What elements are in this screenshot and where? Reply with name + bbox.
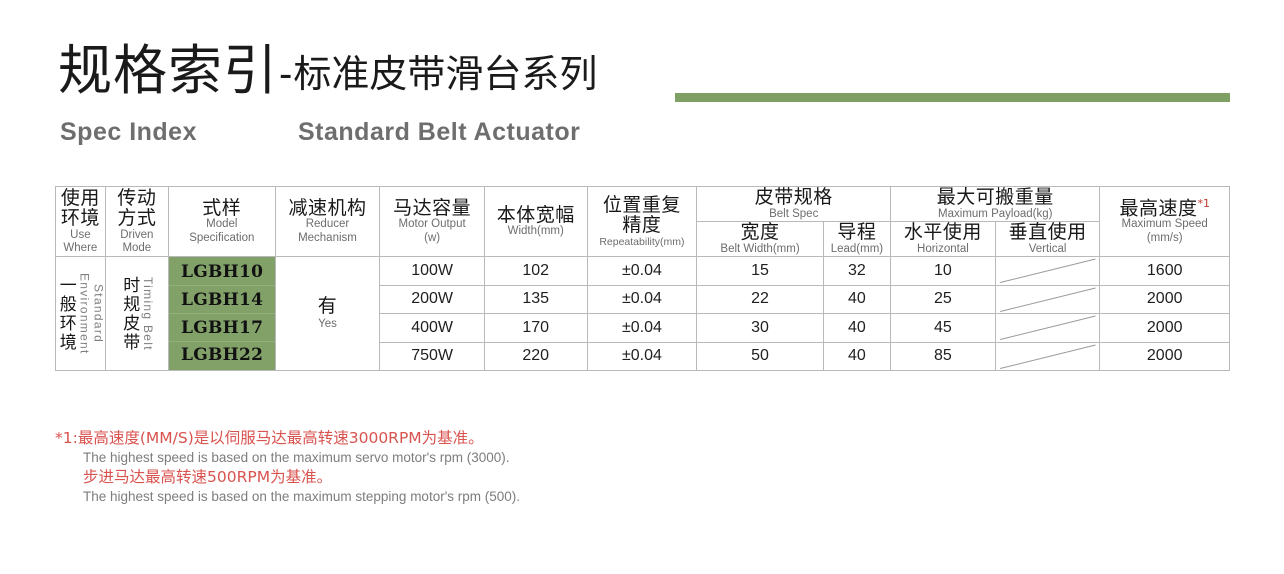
th-speed-en-l1: Maximum Speed bbox=[1100, 218, 1229, 232]
cell-lead: 40 bbox=[823, 314, 890, 343]
cell-horizontal: 10 bbox=[891, 257, 996, 286]
diagonal-slash-icon bbox=[996, 314, 1100, 342]
th-driven-mode: 传动 方式 Driven Mode bbox=[105, 187, 168, 257]
cell-max-speed: 2000 bbox=[1100, 314, 1230, 343]
th-use-where-cn-l2: 环境 bbox=[56, 208, 105, 229]
title-main-cn: 规格索引 bbox=[58, 44, 278, 98]
spec-table: 使用 环境 Use Where 传动 方式 Driven Mode 式样 Mod… bbox=[55, 186, 1230, 371]
cell-vertical-not-applicable bbox=[995, 342, 1100, 371]
th-speed-cn: 最高速度*1 bbox=[1100, 198, 1229, 219]
cell-max-speed: 2000 bbox=[1100, 285, 1230, 314]
th-repeat-en: Repeatability(mm) bbox=[588, 236, 697, 248]
th-model-en-l1: Model bbox=[169, 218, 275, 232]
cell-width: 220 bbox=[484, 342, 587, 371]
th-driven-mode-en-l2: Mode bbox=[106, 242, 168, 256]
cell-belt-width: 22 bbox=[697, 285, 823, 314]
cell-repeatability: ±0.04 bbox=[587, 285, 697, 314]
use-where-vertical-box: 一般环境 Standard Environment bbox=[56, 259, 105, 369]
th-payload-cn: 最大可搬重量 bbox=[891, 187, 1099, 208]
footnote-2-cn: 步进马达最高转速500RPM为基准。 bbox=[83, 467, 855, 488]
driven-mode-en-value: Timing Belt bbox=[141, 277, 155, 351]
cell-width: 135 bbox=[484, 285, 587, 314]
table-row: 一般环境 Standard Environment 时规皮带 Timing Be… bbox=[56, 257, 1230, 286]
th-belt-width: 宽度 Belt Width(mm) bbox=[697, 222, 823, 257]
cell-max-speed: 2000 bbox=[1100, 342, 1230, 371]
cell-motor-output: 200W bbox=[380, 285, 485, 314]
cell-vertical-not-applicable bbox=[995, 257, 1100, 286]
footnote-2-en: The highest speed is based on the maximu… bbox=[83, 488, 855, 506]
th-belt-width-en: Belt Width(mm) bbox=[697, 243, 822, 257]
cell-vertical-not-applicable bbox=[995, 314, 1100, 343]
th-model-en-l2: Specification bbox=[169, 232, 275, 246]
subtitle-standard-belt-actuator: Standard Belt Actuator bbox=[298, 118, 580, 147]
th-motor-output: 马达容量 Motor Output (w) bbox=[380, 187, 485, 257]
cell-vertical-not-applicable bbox=[995, 285, 1100, 314]
th-vertical: 垂直使用 Vertical bbox=[995, 222, 1100, 257]
driven-mode-vertical-box: 时规皮带 Timing Belt bbox=[106, 259, 168, 369]
th-belt-spec-cn: 皮带规格 bbox=[697, 187, 890, 208]
diagonal-slash-icon bbox=[996, 286, 1100, 314]
model-list: LGBH10 LGBH14 LGBH17 LGBH22 bbox=[169, 259, 275, 369]
th-maximum-speed: 最高速度*1 Maximum Speed (mm/s) bbox=[1100, 187, 1230, 257]
cell-lead: 32 bbox=[823, 257, 890, 286]
footnotes: *1:最高速度(MM/S)是以伺服马达最高转速3000RPM为基准。 The h… bbox=[55, 428, 855, 506]
accent-bar bbox=[675, 93, 1230, 102]
th-width: 本体宽幅 Width(mm) bbox=[484, 187, 587, 257]
use-where-en-value: Standard Environment bbox=[78, 259, 106, 369]
th-reducer-en-l2: Mechanism bbox=[276, 232, 380, 246]
th-vertical-en: Vertical bbox=[996, 243, 1100, 257]
th-speed-cn-text: 最高速度 bbox=[1119, 197, 1197, 219]
diagonal-slash-icon bbox=[996, 343, 1100, 371]
cell-width: 102 bbox=[484, 257, 587, 286]
th-horizontal-en: Horizontal bbox=[891, 243, 995, 257]
th-motor-en-l2: (w) bbox=[380, 232, 484, 246]
model-item-lgbh14[interactable]: LGBH14 bbox=[169, 286, 275, 314]
cell-belt-width: 30 bbox=[697, 314, 823, 343]
th-reducer-cn: 减速机构 bbox=[276, 198, 380, 219]
th-speed-footnote-marker: *1 bbox=[1197, 197, 1210, 210]
page-header: 规格索引 - 标准皮带滑台系列 Spec Index Standard Belt… bbox=[0, 0, 1284, 170]
reducer-en-value: Yes bbox=[276, 318, 380, 332]
diagonal-slash-icon bbox=[996, 257, 1100, 285]
th-group-max-payload: 最大可搬重量 Maximum Payload(kg) bbox=[891, 187, 1100, 222]
cell-width: 170 bbox=[484, 314, 587, 343]
th-use-where-cn-l1: 使用 bbox=[56, 188, 105, 209]
subtitle-spec-index: Spec Index bbox=[60, 118, 197, 147]
footnote-1-cn: *1:最高速度(MM/S)是以伺服马达最高转速3000RPM为基准。 bbox=[55, 428, 855, 449]
th-driven-mode-en-l1: Driven bbox=[106, 229, 168, 243]
th-width-en: Width(mm) bbox=[485, 225, 587, 239]
th-reducer-en-l1: Reducer bbox=[276, 218, 380, 232]
th-horizontal-cn: 水平使用 bbox=[891, 222, 995, 243]
cell-lead: 40 bbox=[823, 342, 890, 371]
th-group-belt-spec: 皮带规格 Belt Spec bbox=[697, 187, 891, 222]
cell-repeatability: ±0.04 bbox=[587, 342, 697, 371]
th-driven-mode-cn-l2: 方式 bbox=[106, 208, 168, 229]
model-item-lgbh22[interactable]: LGBH22 bbox=[169, 342, 275, 369]
cell-horizontal: 25 bbox=[891, 285, 996, 314]
th-lead-en: Lead(mm) bbox=[824, 243, 890, 257]
cell-belt-width: 50 bbox=[697, 342, 823, 371]
subtitle-row: Spec Index Standard Belt Actuator bbox=[60, 118, 700, 148]
th-driven-mode-cn-l1: 传动 bbox=[106, 188, 168, 209]
cell-lead: 40 bbox=[823, 285, 890, 314]
th-repeat-cn-l1: 位置重复 bbox=[588, 195, 697, 216]
cell-repeatability: ±0.04 bbox=[587, 314, 697, 343]
th-belt-width-cn: 宽度 bbox=[697, 222, 822, 243]
th-vertical-cn: 垂直使用 bbox=[996, 222, 1100, 243]
cell-repeatability: ±0.04 bbox=[587, 257, 697, 286]
spec-table-container: 使用 环境 Use Where 传动 方式 Driven Mode 式样 Mod… bbox=[55, 186, 1230, 394]
th-motor-en-l1: Motor Output bbox=[380, 218, 484, 232]
use-where-cn-value: 一般环境 bbox=[55, 276, 76, 352]
th-model-cn: 式样 bbox=[169, 198, 275, 219]
th-model-specification: 式样 Model Specification bbox=[168, 187, 275, 257]
th-horizontal: 水平使用 Horizontal bbox=[891, 222, 996, 257]
th-payload-en: Maximum Payload(kg) bbox=[891, 208, 1099, 222]
reducer-cn-value: 有 bbox=[276, 296, 380, 317]
th-lead: 导程 Lead(mm) bbox=[823, 222, 890, 257]
title-dash: - bbox=[279, 54, 292, 94]
cell-horizontal: 85 bbox=[891, 342, 996, 371]
cell-model-list: LGBH10 LGBH14 LGBH17 LGBH22 bbox=[168, 257, 275, 371]
cell-motor-output: 400W bbox=[380, 314, 485, 343]
cell-use-where-value: 一般环境 Standard Environment bbox=[56, 257, 106, 371]
th-speed-en-l2: (mm/s) bbox=[1100, 232, 1229, 246]
th-use-where-en-l1: Use bbox=[56, 229, 105, 243]
model-item-lgbh10[interactable]: LGBH10 bbox=[169, 259, 275, 287]
title-sub-cn: 标准皮带滑台系列 bbox=[293, 55, 597, 93]
cell-max-speed: 1600 bbox=[1100, 257, 1230, 286]
cell-motor-output: 100W bbox=[380, 257, 485, 286]
cell-reducer-value: 有 Yes bbox=[275, 257, 380, 371]
th-width-cn: 本体宽幅 bbox=[485, 205, 587, 226]
cell-driven-mode-value: 时规皮带 Timing Belt bbox=[105, 257, 168, 371]
cell-horizontal: 45 bbox=[891, 314, 996, 343]
th-use-where-en-l2: Where bbox=[56, 242, 105, 256]
model-item-lgbh17[interactable]: LGBH17 bbox=[169, 314, 275, 342]
th-repeat-cn-l2: 精度 bbox=[588, 215, 697, 236]
th-repeatability: 位置重复 精度 Repeatability(mm) bbox=[587, 187, 697, 257]
th-motor-cn: 马达容量 bbox=[380, 198, 484, 219]
footnote-1-en: The highest speed is based on the maximu… bbox=[83, 449, 855, 467]
th-belt-spec-en: Belt Spec bbox=[697, 208, 890, 222]
driven-mode-cn-value: 时规皮带 bbox=[118, 276, 139, 352]
th-use-where: 使用 环境 Use Where bbox=[56, 187, 106, 257]
th-reducer-mechanism: 减速机构 Reducer Mechanism bbox=[275, 187, 380, 257]
page-title: 规格索引 - 标准皮带滑台系列 bbox=[58, 44, 597, 98]
cell-belt-width: 15 bbox=[697, 257, 823, 286]
th-lead-cn: 导程 bbox=[824, 222, 890, 243]
cell-motor-output: 750W bbox=[380, 342, 485, 371]
table-header-row-1: 使用 环境 Use Where 传动 方式 Driven Mode 式样 Mod… bbox=[56, 187, 1230, 222]
